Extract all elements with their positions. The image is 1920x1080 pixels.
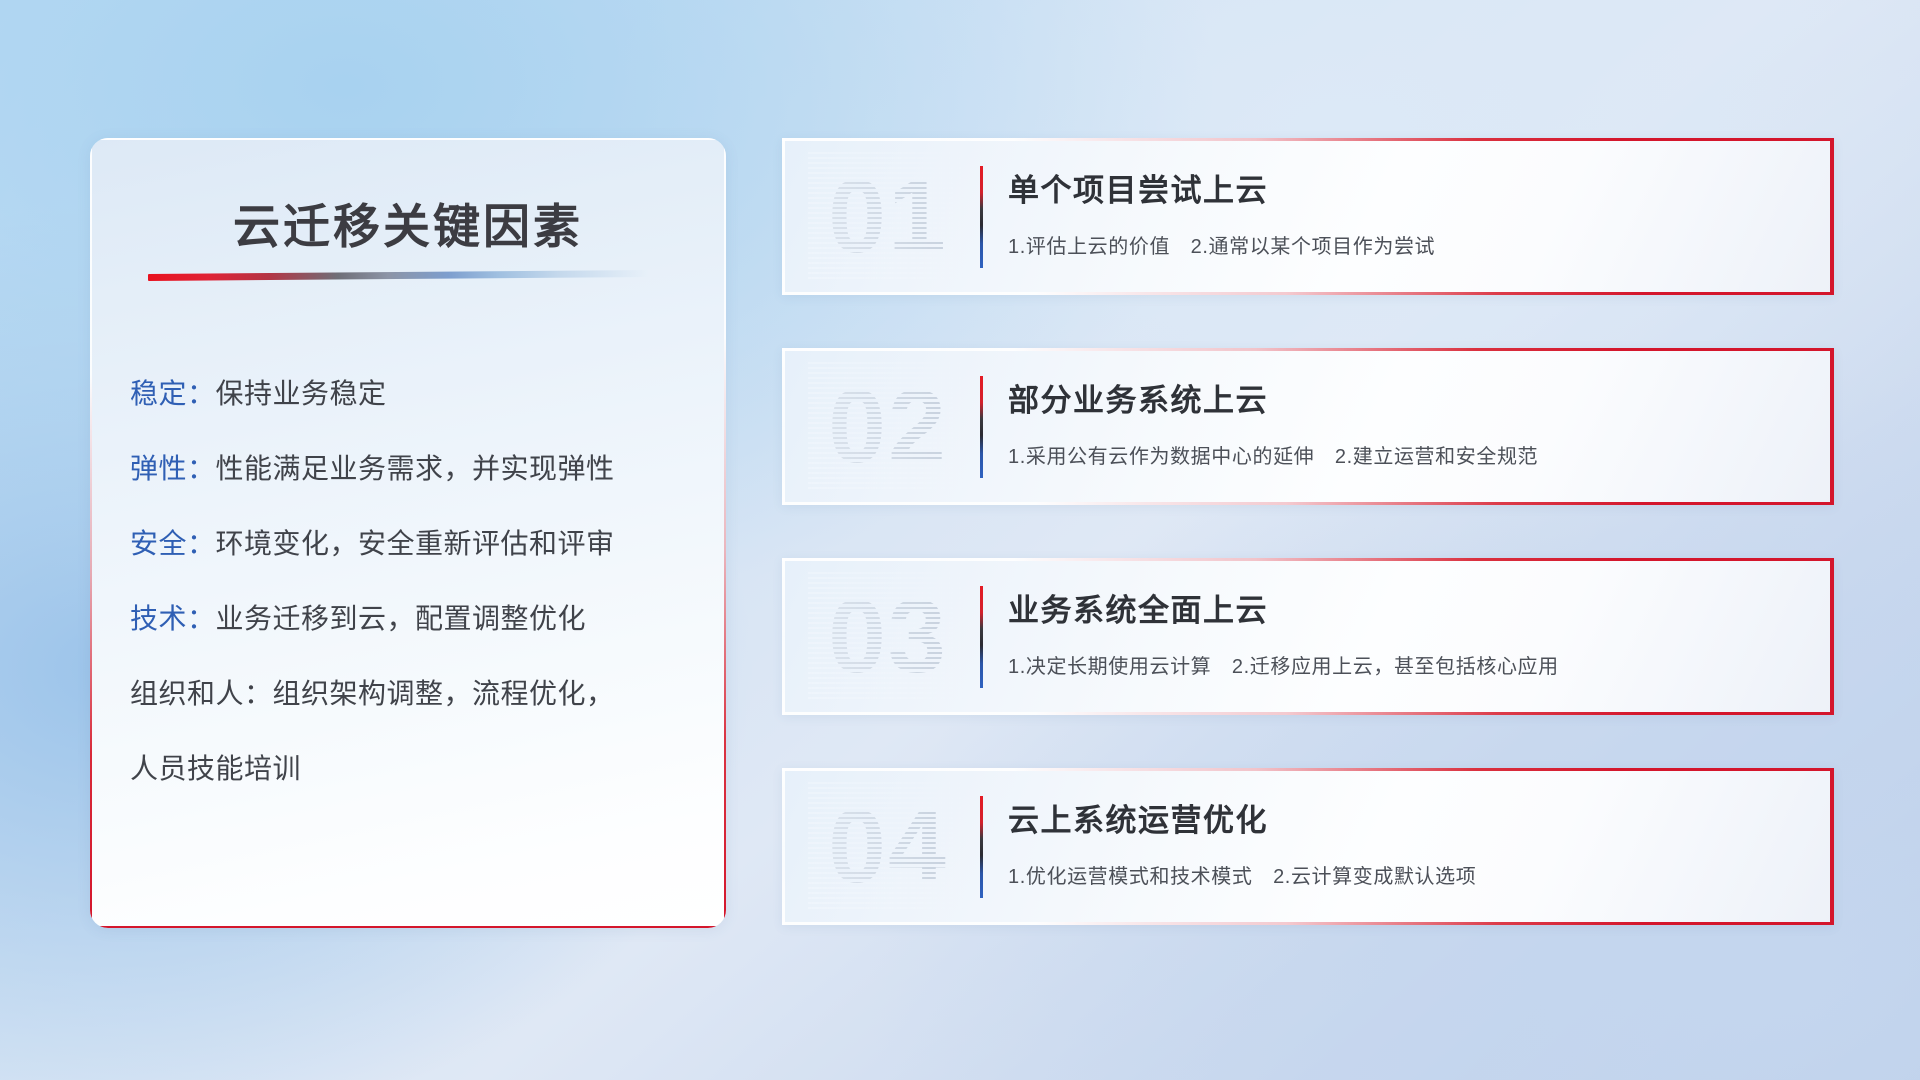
key-factor-value: 环境变化，安全重新评估和评审 bbox=[216, 528, 615, 559]
key-factor-row: 技术：业务迁移到云，配置调整优化 bbox=[130, 581, 698, 656]
stage-subtitle: 1.决定长期使用云计算 2.迁移应用上云，甚至包括核心应用 bbox=[1008, 650, 1559, 679]
stage-title: 云上系统运营优化 bbox=[1008, 795, 1268, 840]
stage-title: 单个项目尝试上云 bbox=[1008, 165, 1268, 210]
card-border-right bbox=[1830, 138, 1834, 295]
panel-border-top bbox=[90, 138, 726, 140]
key-factor-label: 组织和人： bbox=[130, 678, 273, 709]
key-factor-row: 弹性：性能满足业务需求，并实现弹性 bbox=[130, 431, 698, 506]
card-border-left bbox=[782, 138, 785, 295]
key-factor-row: 组织和人：组织架构调整，流程优化， bbox=[130, 656, 698, 731]
card-border-right bbox=[1830, 558, 1834, 715]
card-border-top bbox=[782, 348, 1834, 351]
stages-list: 01单个项目尝试上云1.评估上云的价值 2.通常以某个项目作为尝试02部分业务系… bbox=[782, 138, 1834, 978]
card-border-bottom bbox=[782, 502, 1834, 505]
stage-title: 部分业务系统上云 bbox=[1008, 375, 1268, 420]
stage-subtitle: 1.评估上云的价值 2.通常以某个项目作为尝试 bbox=[1008, 230, 1435, 259]
stage-number-watermark: 01 bbox=[808, 152, 968, 282]
card-border-left bbox=[782, 348, 785, 505]
key-factors-list: 稳定：保持业务稳定弹性：性能满足业务需求，并实现弹性安全：环境变化，安全重新评估… bbox=[130, 356, 698, 806]
key-factor-value: 性能满足业务需求，并实现弹性 bbox=[216, 453, 615, 484]
slide-canvas: 云迁移关键因素 稳定：保持业务稳定弹性：性能满足业务需求，并实现弹性安全：环境变… bbox=[0, 0, 1920, 1080]
key-factor-row: 稳定：保持业务稳定 bbox=[130, 356, 698, 431]
title-divider bbox=[148, 270, 648, 281]
card-border-left bbox=[782, 558, 785, 715]
stage-card[interactable]: 03业务系统全面上云1.决定长期使用云计算 2.迁移应用上云，甚至包括核心应用 bbox=[782, 558, 1834, 715]
page-title: 云迁移关键因素 bbox=[90, 188, 726, 257]
key-factors-panel: 云迁移关键因素 稳定：保持业务稳定弹性：性能满足业务需求，并实现弹性安全：环境变… bbox=[90, 138, 726, 928]
card-border-top bbox=[782, 558, 1834, 561]
key-factor-row: 安全：环境变化，安全重新评估和评审 bbox=[130, 506, 698, 581]
stage-accent-bar bbox=[980, 796, 983, 898]
stage-accent-bar bbox=[980, 166, 983, 268]
key-factor-value: 业务迁移到云，配置调整优化 bbox=[216, 603, 587, 634]
stage-subtitle: 1.优化运营模式和技术模式 2.云计算变成默认选项 bbox=[1008, 860, 1476, 889]
key-factor-value: 保持业务稳定 bbox=[216, 378, 387, 409]
stage-accent-bar bbox=[980, 376, 983, 478]
card-border-top bbox=[782, 768, 1834, 771]
stage-card[interactable]: 02部分业务系统上云1.采用公有云作为数据中心的延伸 2.建立运营和安全规范 bbox=[782, 348, 1834, 505]
panel-border-bottom bbox=[90, 926, 726, 928]
key-factor-label: 稳定： bbox=[130, 378, 216, 409]
card-border-bottom bbox=[782, 292, 1834, 295]
key-factor-label: 安全： bbox=[130, 528, 216, 559]
card-border-bottom bbox=[782, 922, 1834, 925]
card-border-right bbox=[1830, 768, 1834, 925]
card-border-right bbox=[1830, 348, 1834, 505]
stage-number-watermark: 04 bbox=[808, 782, 968, 912]
card-border-bottom bbox=[782, 712, 1834, 715]
card-border-top bbox=[782, 138, 1834, 141]
stage-card[interactable]: 01单个项目尝试上云1.评估上云的价值 2.通常以某个项目作为尝试 bbox=[782, 138, 1834, 295]
stage-number-watermark: 02 bbox=[808, 362, 968, 492]
key-factor-value: 人员技能培训 bbox=[130, 753, 301, 784]
key-factor-value: 组织架构调整，流程优化， bbox=[273, 678, 615, 709]
stage-subtitle: 1.采用公有云作为数据中心的延伸 2.建立运营和安全规范 bbox=[1008, 440, 1538, 469]
card-border-left bbox=[782, 768, 785, 925]
stage-accent-bar bbox=[980, 586, 983, 688]
key-factor-label: 技术： bbox=[130, 603, 216, 634]
stage-card[interactable]: 04云上系统运营优化1.优化运营模式和技术模式 2.云计算变成默认选项 bbox=[782, 768, 1834, 925]
stage-title: 业务系统全面上云 bbox=[1008, 585, 1268, 630]
key-factor-label: 弹性： bbox=[130, 453, 216, 484]
stage-number-watermark: 03 bbox=[808, 572, 968, 702]
key-factor-row: 人员技能培训 bbox=[130, 731, 698, 806]
